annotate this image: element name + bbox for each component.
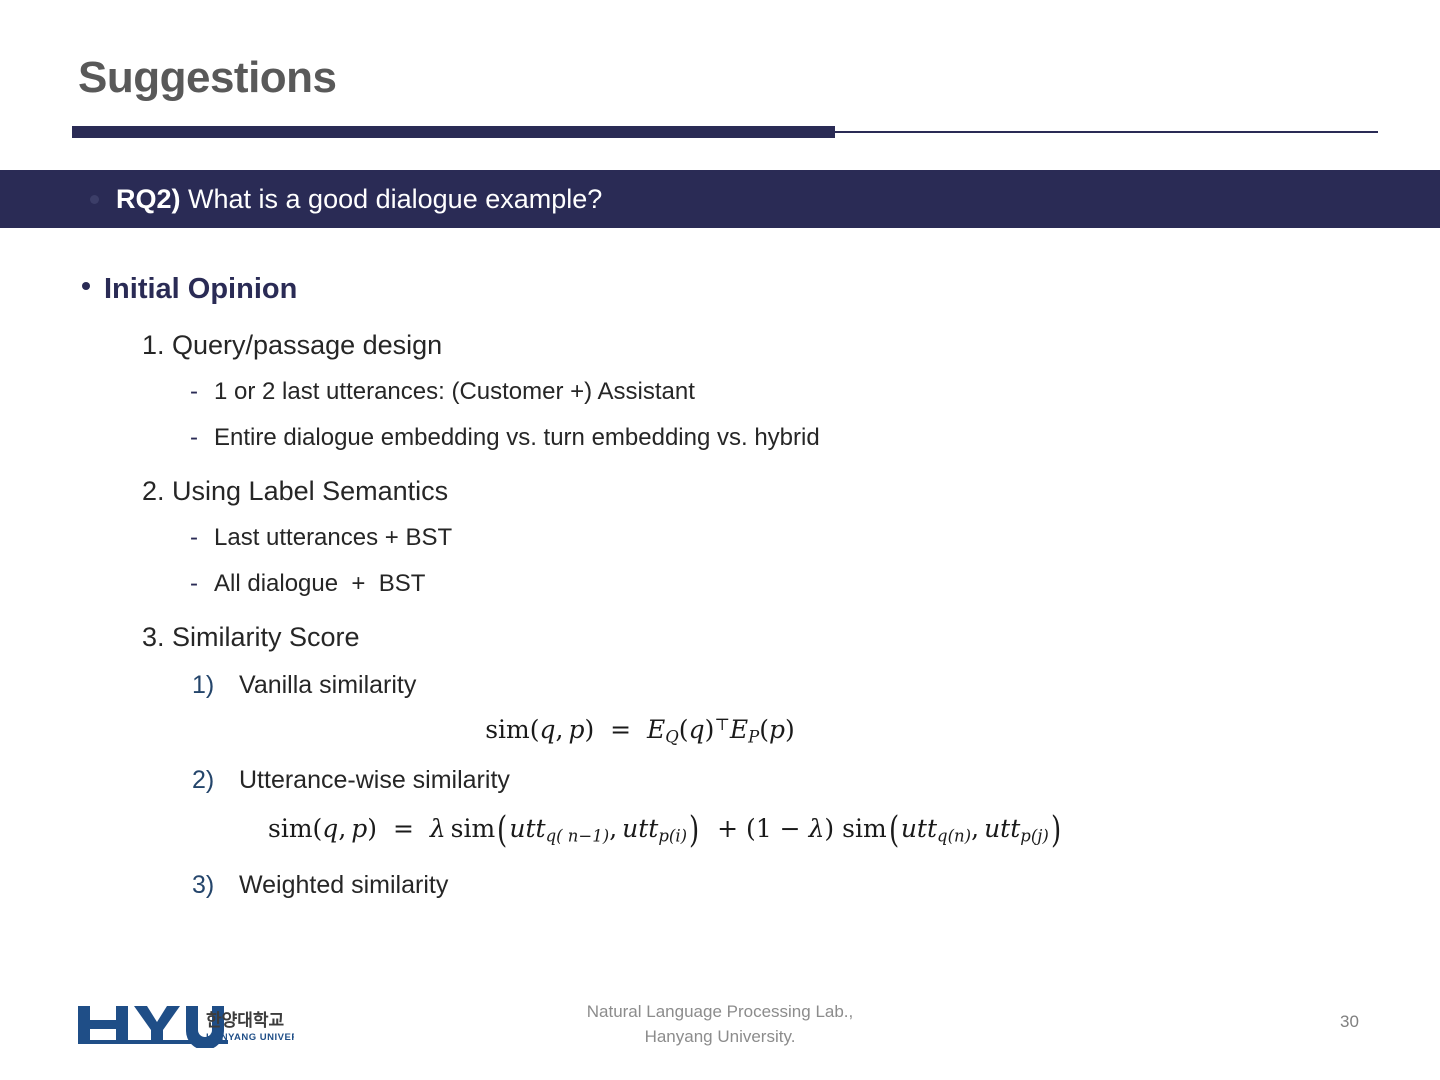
list-item: - Entire dialogue embedding vs. turn emb… <box>190 424 1440 453</box>
section-2-title: 2. Using Label Semantics <box>142 475 1440 507</box>
dash-marker-icon: - <box>190 524 198 553</box>
list-item-label: Entire dialogue embedding vs. turn embed… <box>214 424 820 453</box>
item-label-weighted-similarity: Weighted similarity <box>239 870 448 900</box>
list-item: - All dialogue + BST <box>190 570 1440 599</box>
banner-text: RQ2) What is a good dialogue example? <box>116 186 602 213</box>
formula-vanilla-similarity: sim(q, p) = EQ(q)⊤EP(p) <box>0 714 1440 748</box>
list-item: 3) Weighted similarity <box>192 870 1440 900</box>
title-rule-thick <box>72 126 835 138</box>
item-label-utterance-wise-similarity: Utterance-wise similarity <box>239 765 510 795</box>
item-label-vanilla-similarity: Vanilla similarity <box>239 670 416 700</box>
banner-rest-label: What is a good dialogue example? <box>181 184 603 214</box>
bullet-dot-icon <box>82 282 90 290</box>
section-3-title: 3. Similarity Score <box>142 621 1440 653</box>
banner-bullet-icon <box>90 195 99 204</box>
dash-marker-icon: - <box>190 424 198 453</box>
banner-lead-label: RQ2) <box>116 184 181 214</box>
list-item: 2) Utterance-wise similarity <box>192 765 1440 795</box>
formula-utterance-wise-similarity: sim(q, p) = λ sim(uttq( n−1), uttp(i)) +… <box>268 807 1440 852</box>
list-item: 1) Vanilla similarity <box>192 670 1440 700</box>
list-item-label: Last utterances + BST <box>214 524 452 553</box>
hyu-logo: 한양대학교 HANYANG UNIVERSITY <box>76 1000 294 1048</box>
svg-text:한양대학교: 한양대학교 <box>206 1011 285 1031</box>
item-marker-2: 2) <box>192 765 239 795</box>
slide-body: Initial Opinion 1. Query/passage design … <box>0 272 1440 900</box>
dash-marker-icon: - <box>190 570 198 599</box>
item-marker-3: 3) <box>192 870 239 900</box>
list-item-label: 1 or 2 last utterances: (Customer +) Ass… <box>214 378 695 407</box>
dash-marker-icon: - <box>190 378 198 407</box>
hyu-english-text: HANYANG UNIVERSITY <box>206 1032 294 1043</box>
hyu-korean-text: 한양대학교 <box>206 1011 285 1031</box>
section-1-title: 1. Query/passage design <box>142 329 1440 361</box>
list-item: - Last utterances + BST <box>190 524 1440 553</box>
page-title: Suggestions <box>78 54 337 102</box>
list-item: - 1 or 2 last utterances: (Customer +) A… <box>190 378 1440 407</box>
research-question-banner: RQ2) What is a good dialogue example? <box>0 170 1440 228</box>
item-marker-1: 1) <box>192 670 239 700</box>
list-item-label: All dialogue + BST <box>214 570 425 599</box>
page-number: 30 <box>1340 1012 1359 1032</box>
initial-opinion-label: Initial Opinion <box>104 272 297 307</box>
initial-opinion-heading: Initial Opinion <box>82 272 1440 307</box>
svg-text:HANYANG UNIVERSITY: HANYANG UNIVERSITY <box>206 1032 294 1043</box>
